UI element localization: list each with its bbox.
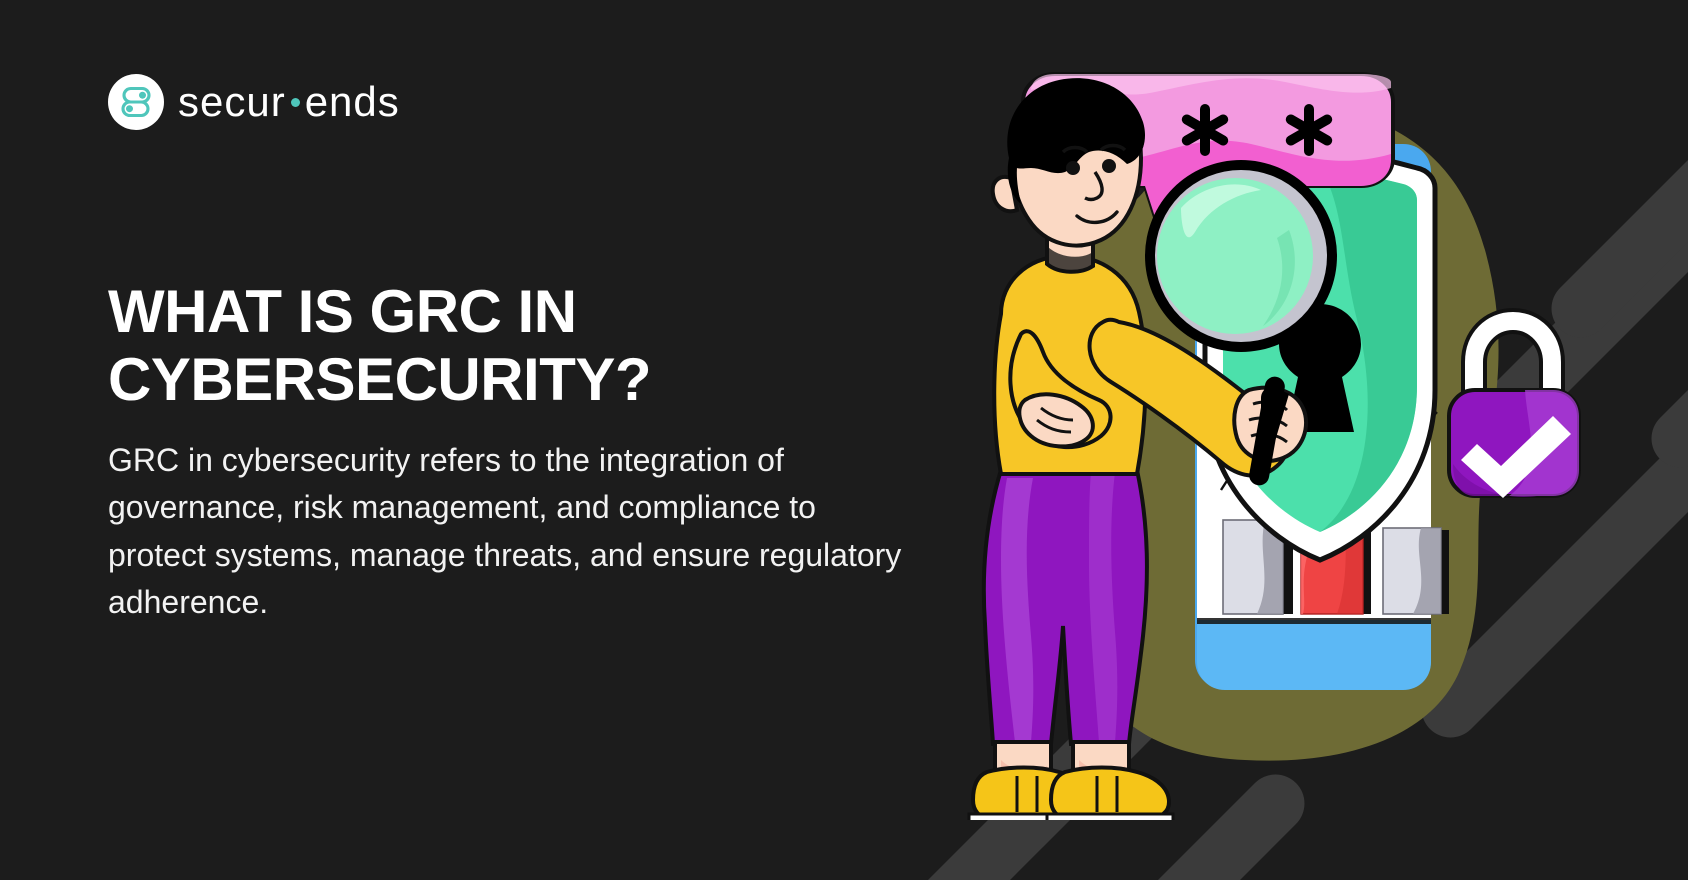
chart-bar xyxy=(1383,528,1441,614)
stripe xyxy=(1639,170,1688,480)
brand-name-part1: secur xyxy=(178,78,286,126)
teal-dot-icon xyxy=(291,98,300,107)
brand-logo[interactable]: secur ends xyxy=(108,74,400,130)
brand-wordmark: secur ends xyxy=(178,78,400,126)
page-title: WHAT IS GRC IN CYBERSECURITY? xyxy=(108,278,868,414)
page-description: GRC in cybersecurity refers to the integ… xyxy=(108,437,908,626)
brand-name-part2: ends xyxy=(305,78,400,126)
hero-illustration xyxy=(905,60,1605,820)
poster-canvas: secur ends WHAT IS GRC IN CYBERSECURITY?… xyxy=(0,0,1688,880)
padlock-check-icon xyxy=(1449,310,1579,498)
securends-logo-mark xyxy=(108,74,164,130)
